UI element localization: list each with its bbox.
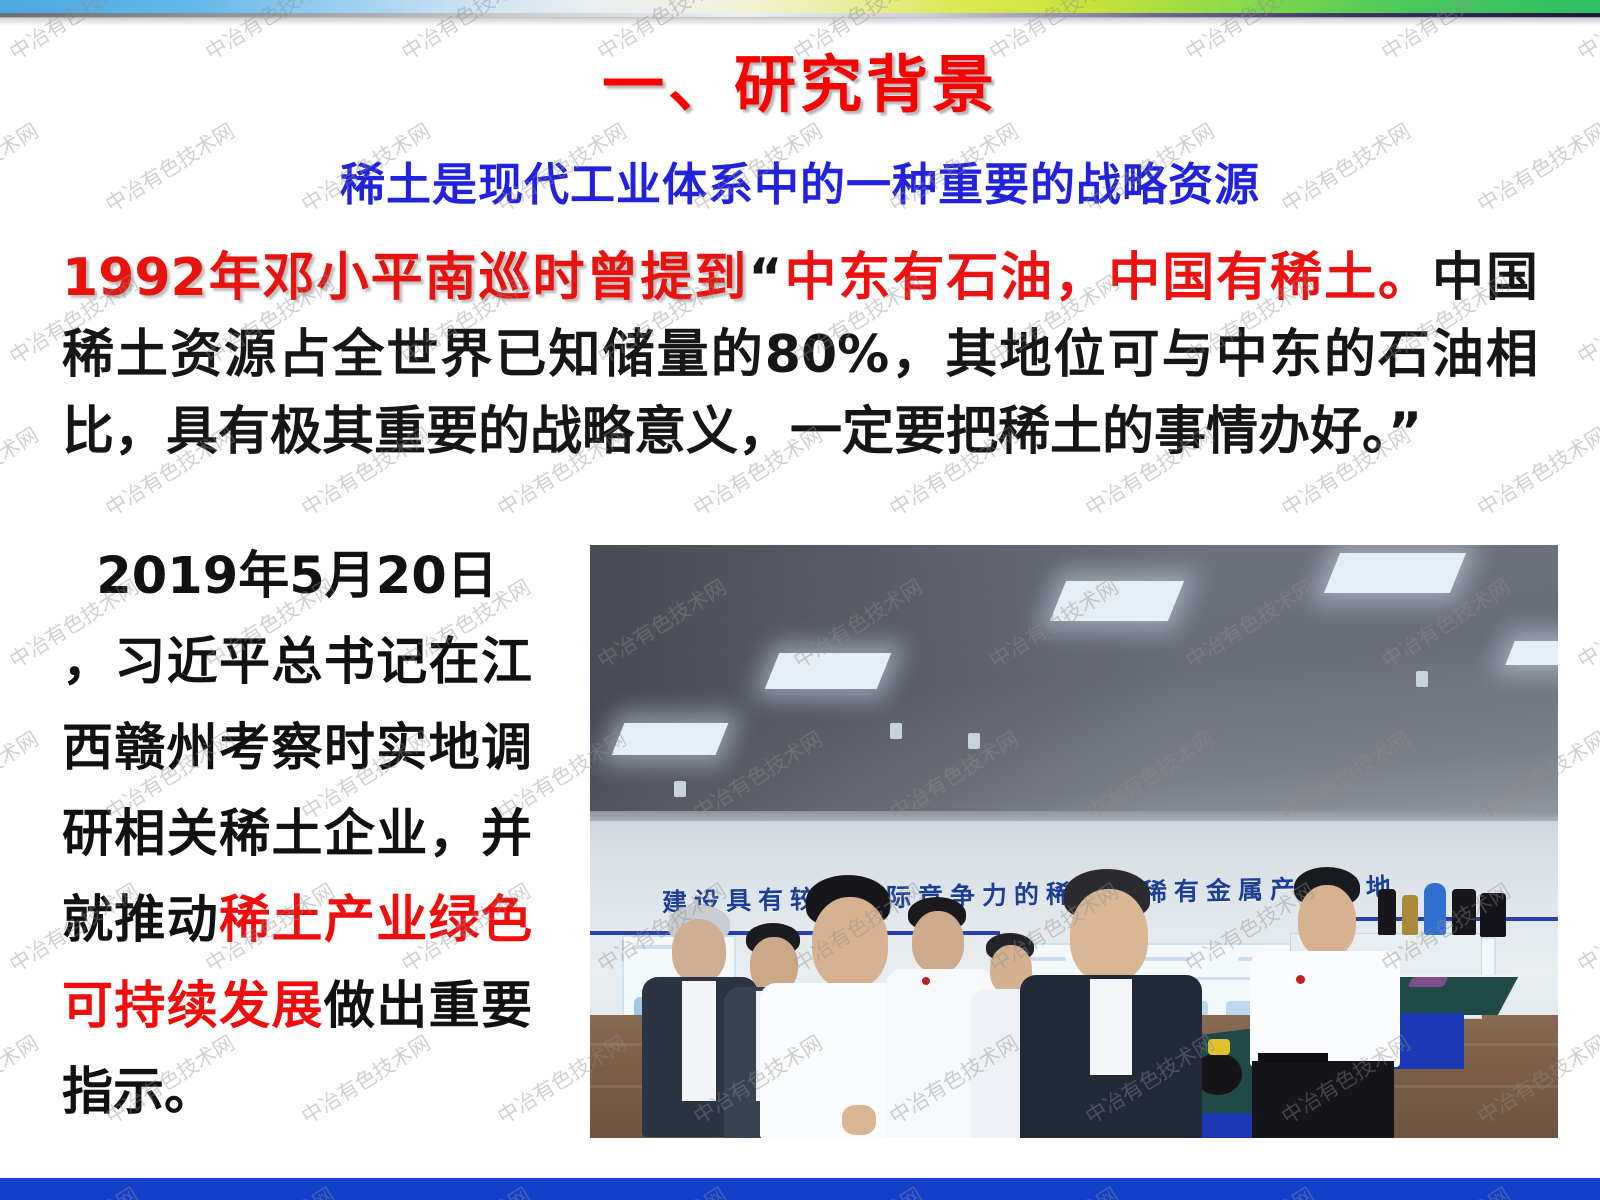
- spacer: [930, 546, 931, 547]
- left-paragraph: 2019年5月20日，习近平总书记在江西赣州考察时实地调研相关稀土企业，并就推动…: [62, 534, 532, 1136]
- bottle: [1378, 889, 1396, 935]
- ceiling-light-panel: [1050, 581, 1184, 621]
- top-decorative-band: [0, 0, 1600, 26]
- slide-root: 一、研究背景 稀土是现代工业体系中的一种重要的战略资源 1992年邓小平南巡时曾…: [0, 0, 1600, 1200]
- watermark-text: 中冶有色技术网: [1571, 571, 1600, 674]
- band-fade: [0, 17, 1600, 26]
- photo-xi-jinping-ganzhou-visit: 建设具有较强国际竞争力的稀土钨稀有金属产业基地: [590, 545, 1558, 1138]
- bottle: [1424, 883, 1446, 935]
- watermark-text: 中冶有色技术网: [0, 723, 44, 826]
- watermark-text: 中冶有色技术网: [0, 1027, 44, 1130]
- quote-paragraph: 1992年邓小平南巡时曾提到“中东有石油，中国有稀土。中国稀土资源占全世界已知储…: [62, 240, 1538, 471]
- ceiling-light-panel: [612, 723, 729, 755]
- quote-segment-famous: 中东有石油，中国有稀土。: [783, 248, 1433, 308]
- bottle: [1452, 889, 1476, 935]
- bottom-blue-bar: [0, 1178, 1600, 1200]
- quote-open-mark: “: [748, 248, 782, 308]
- ceiling-light-panel: [1505, 641, 1558, 665]
- ceiling-downlight: [890, 723, 902, 739]
- watermark-text: 中冶有色技术网: [1571, 875, 1600, 978]
- bottle: [1480, 893, 1506, 937]
- quote-segment-intro: 1992年邓小平南巡时曾提到: [62, 248, 748, 308]
- ceiling-light-panel: [765, 653, 892, 689]
- watermark-text: 中冶有色技术网: [0, 419, 44, 522]
- page-subtitle: 稀土是现代工业体系中的一种重要的战略资源: [0, 148, 1600, 213]
- display-item: [1407, 977, 1448, 987]
- ceiling-downlight: [1416, 671, 1428, 687]
- page-title: 一、研究背景: [0, 34, 1600, 124]
- ceiling-downlight: [968, 733, 980, 749]
- bottle: [1402, 895, 1418, 935]
- quote-close-mark: ”: [1388, 402, 1422, 462]
- display-item: [1208, 1039, 1230, 1055]
- watermark-text: 中冶有色技术网: [1571, 267, 1600, 370]
- ceiling-downlight: [674, 781, 686, 797]
- ceiling-light-panel: [1324, 553, 1466, 593]
- left-paragraph-date: 2019年5月20日: [62, 534, 532, 620]
